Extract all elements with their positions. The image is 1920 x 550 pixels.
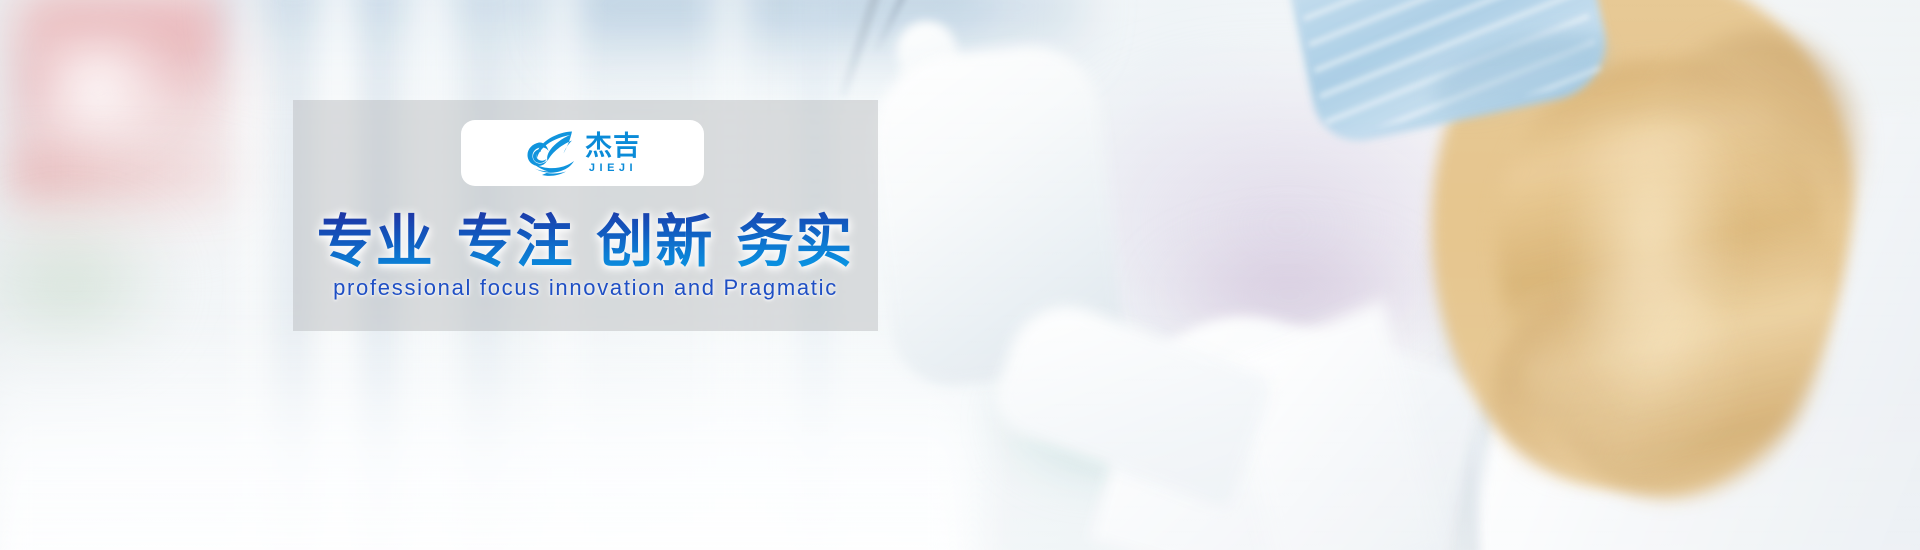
slogan-headline: 专业 专注 创新 务实	[293, 196, 878, 278]
logo-chinese-name: 杰吉	[585, 133, 641, 160]
background-photo	[0, 0, 1920, 550]
background-counter	[0, 310, 980, 550]
hero-banner: 杰吉 JIEJI 专业 专注 创新 务实 professional focus …	[0, 0, 1920, 550]
hair-highlight	[1560, 120, 1740, 420]
background-poster-strip	[10, 150, 245, 200]
slogan-subtitle: professional focus innovation and Pragma…	[293, 275, 878, 301]
logo-romanized-name: JIEJI	[589, 163, 637, 174]
jieji-swoosh-wave-mark	[524, 129, 576, 177]
logo-wordmark: 杰吉 JIEJI	[585, 133, 641, 174]
company-logo-badge[interactable]: 杰吉 JIEJI	[461, 120, 704, 186]
